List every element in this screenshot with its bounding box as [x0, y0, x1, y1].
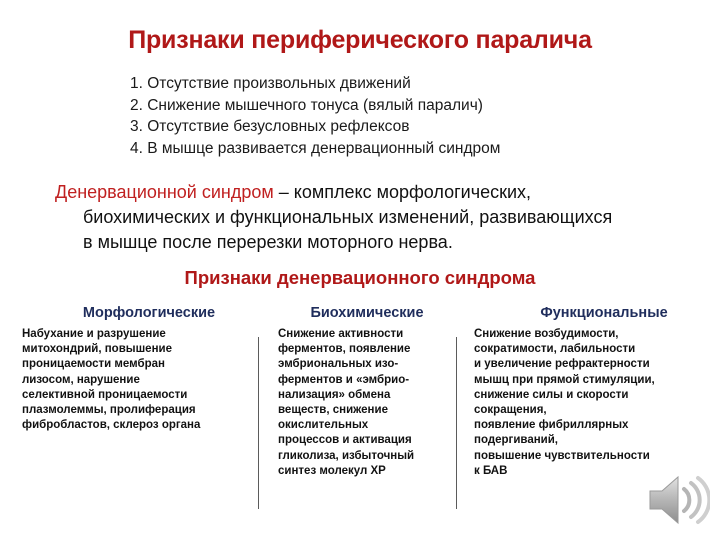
definition-term: Денервационной синдром	[55, 182, 274, 202]
column-line: Снижение возбудимости,	[474, 327, 714, 342]
column-biochemical: Биохимические Снижение активности фермен…	[278, 305, 450, 479]
column-line: проницаемости мембран	[22, 357, 254, 372]
column-divider	[456, 337, 457, 509]
list-item: 3. Отсутствие безусловных рефлексов	[130, 116, 650, 138]
column-line: митохондрий, повышение	[22, 342, 254, 357]
speaker-icon[interactable]	[648, 473, 710, 527]
definition-line3: в мышце после перерезки моторного нерва.	[55, 230, 705, 255]
column-line: подергиваний,	[474, 433, 714, 448]
column-line: гликолиза, избыточный	[278, 449, 450, 464]
column-line: плазмолеммы, пролиферация	[22, 403, 254, 418]
column-line: селективной проницаемости	[22, 388, 254, 403]
column-line: нализация» обмена	[278, 388, 450, 403]
definition-line2: биохимических и функциональных изменений…	[55, 205, 705, 230]
column-line: веществ, снижение	[278, 403, 450, 418]
column-line: процессов и активация	[278, 433, 450, 448]
page-title: Признаки периферического паралича	[0, 26, 720, 55]
column-line: и увеличение рефрактерности	[474, 357, 714, 372]
column-line: мышц при прямой стимуляции,	[474, 373, 714, 388]
column-header-functional: Функциональные	[494, 305, 714, 321]
column-divider	[258, 337, 259, 509]
list-item: 2. Снижение мышечного тонуса (вялый пара…	[130, 95, 650, 117]
column-header-biochemical: Биохимические	[284, 305, 450, 321]
column-line: эмбриональных изо-	[278, 357, 450, 372]
column-line: снижение силы и скорости	[474, 388, 714, 403]
column-line: окислительных	[278, 418, 450, 433]
column-morphological: Морфологические Набухание и разрушение м…	[22, 305, 254, 433]
column-header-morphological: Морфологические	[44, 305, 254, 321]
column-line: появление фибриллярных	[474, 418, 714, 433]
signs-numbered-list: 1. Отсутствие произвольных движений 2. С…	[130, 73, 650, 159]
column-line: сократимости, лабильности	[474, 342, 714, 357]
definition-line1-rest: – комплекс морфологических,	[274, 182, 531, 202]
column-functional: Функциональные Снижение возбудимости, со…	[474, 305, 714, 479]
list-item: 4. В мышце развивается денервационный си…	[130, 138, 650, 160]
column-line: ферментов, появление	[278, 342, 450, 357]
column-line: Набухание и разрушение	[22, 327, 254, 342]
column-body-morphological: Набухание и разрушение митохондрий, повы…	[22, 327, 254, 433]
slide-canvas: Признаки периферического паралича 1. Отс…	[0, 0, 720, 540]
denervation-signs-table: Морфологические Набухание и разрушение м…	[0, 305, 720, 530]
section-title: Признаки денервационного синдрома	[0, 267, 720, 289]
column-line: лизосом, нарушение	[22, 373, 254, 388]
column-line: Снижение активности	[278, 327, 450, 342]
column-line: сокращения,	[474, 403, 714, 418]
column-line: повышение чувствительности	[474, 449, 714, 464]
list-item: 1. Отсутствие произвольных движений	[130, 73, 650, 95]
denervation-definition: Денервационной синдром – комплекс морфол…	[55, 180, 705, 255]
column-body-biochemical: Снижение активности ферментов, появление…	[278, 327, 450, 479]
column-line: ферментов и «эмбрио-	[278, 373, 450, 388]
column-body-functional: Снижение возбудимости, сократимости, лаб…	[474, 327, 714, 479]
column-line: синтез молекул ХР	[278, 464, 450, 479]
column-line: фибробластов, склероз органа	[22, 418, 254, 433]
